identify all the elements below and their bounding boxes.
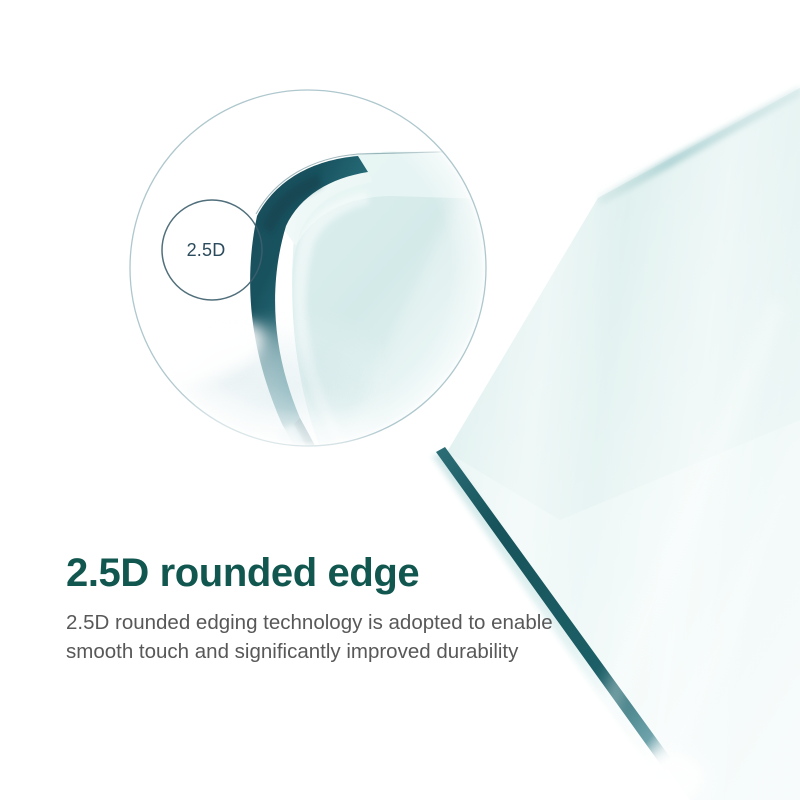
glass-illustration: 2.5D [0, 0, 800, 800]
caption-block: 2.5D rounded edge 2.5D rounded edging te… [66, 552, 706, 666]
page-title: 2.5D rounded edge [66, 552, 706, 594]
caption-description-line-1: 2.5D rounded edging technology is adopte… [66, 608, 596, 637]
loupe-bottom-fade [130, 400, 370, 480]
magnifier-badge-label: 2.5D [187, 240, 226, 260]
loupe-vignette [130, 90, 486, 446]
product-feature-graphic: 2.5D 2.5D rounded edge 2.5D rounded edgi… [0, 0, 800, 800]
caption-description-line-2: smooth touch and significantly improved … [66, 637, 596, 666]
caption-description: 2.5D rounded edging technology is adopte… [66, 608, 596, 666]
